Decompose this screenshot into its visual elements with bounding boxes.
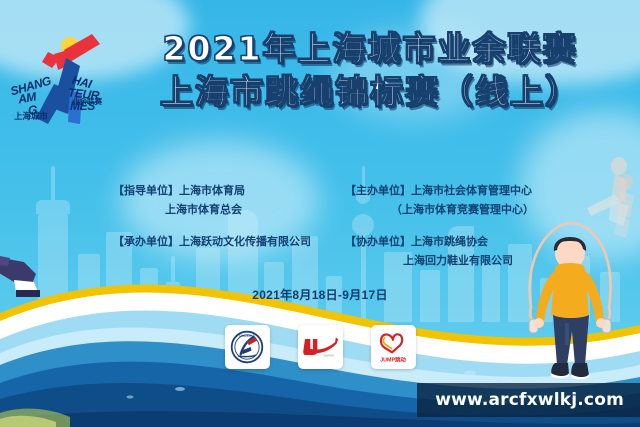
warrior-caption: warrior — [323, 354, 335, 358]
rope-jumper-illustration — [505, 215, 635, 395]
poster-canvas: SHANG AM G HAI TEUR MES 上海城市 业余联赛 2021年上… — [0, 0, 640, 427]
shanghai-sports-emblem-logo: SHANGHAI — [229, 329, 265, 365]
credits-left-organizer: 【承办单位】上海跃动文化传播有限公司 — [113, 233, 311, 252]
jump-rope-logo: JUMP跳动 — [374, 330, 412, 364]
sponsor-logo-card[interactable]: warrior — [298, 325, 343, 369]
sponsor-logo-card[interactable]: SHANGHAI — [225, 325, 270, 369]
building-spire — [51, 166, 55, 200]
warrior-huili-logo: warrior — [300, 332, 340, 362]
building-shape — [36, 200, 70, 214]
credit-value: 上海市跳绳协会 — [411, 236, 488, 248]
credit-value: 上海市体育局 — [179, 185, 245, 197]
credits-left-guidance: 【指导单位】上海市体育局 上海市体育总会 — [113, 182, 245, 220]
credit-value: 上海市社会体育管理中心 — [411, 185, 532, 197]
credit-label: 【主办单位】 — [345, 185, 411, 197]
jump-caption: JUMP跳动 — [380, 355, 406, 363]
watermark-text: www.arcfxwlkj.com — [435, 390, 624, 410]
logo-chinese-label: 上海城市 — [14, 110, 48, 122]
credit-value: 上海市体育总会 — [113, 201, 245, 220]
page-title: 2021年上海城市业余联赛 上海市跳绳锦标赛（线上） — [120, 30, 620, 112]
credit-label: 【承办单位】 — [113, 236, 179, 248]
logo-chinese-label-2: 业余联赛 — [72, 96, 102, 107]
title-line-1: 2021年上海城市业余联赛 — [120, 30, 620, 69]
svg-text:SHANGHAI: SHANGHAI — [239, 334, 256, 338]
title-line-2: 上海市跳绳锦标赛（线上） — [120, 73, 620, 112]
credit-label: 【指导单位】 — [113, 185, 179, 197]
credit-label: 【协办单位】 — [345, 236, 411, 248]
credit-value: 上海回力鞋业有限公司 — [345, 252, 513, 271]
credit-value: 上海跃动文化传播有限公司 — [179, 236, 311, 248]
credits-right-coorganizer: 【协办单位】上海市跳绳协会 上海回力鞋业有限公司 — [345, 233, 513, 271]
sponsor-logo-card[interactable]: JUMP跳动 — [371, 325, 416, 369]
watermark: www.arcfxwlkj.com — [417, 383, 640, 417]
shanghai-amateur-games-logo: SHANG AM G HAI TEUR MES 上海城市 业余联赛 — [8, 24, 120, 132]
